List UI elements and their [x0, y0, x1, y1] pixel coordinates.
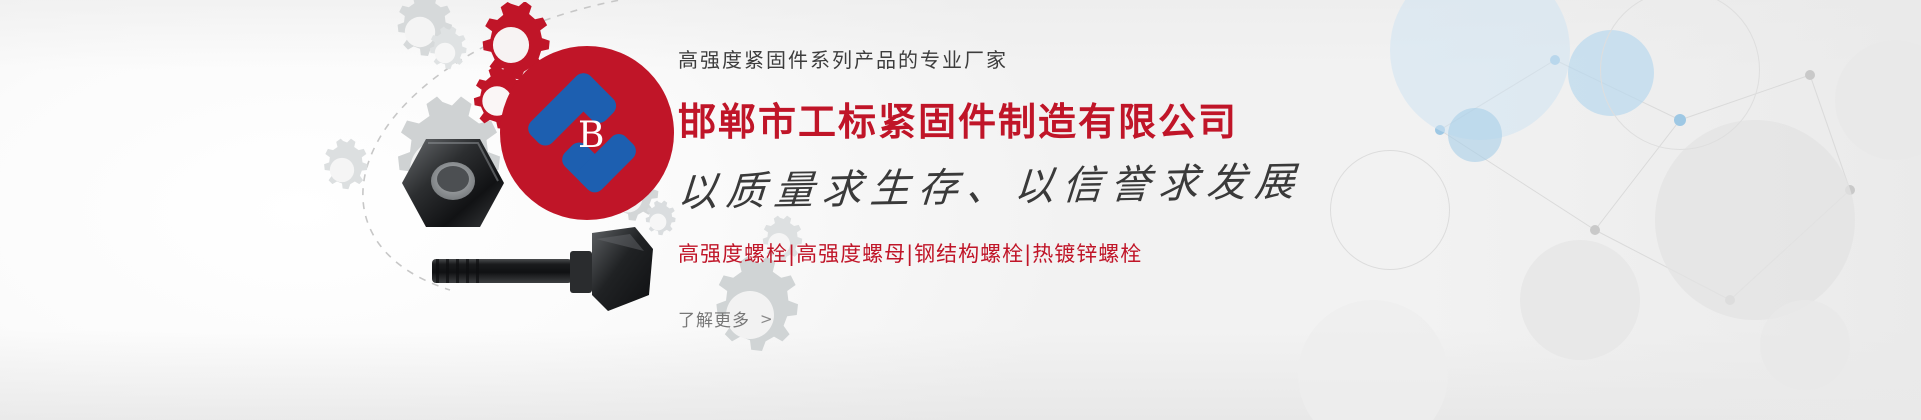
- company-logo: B: [500, 46, 675, 221]
- company-name-heading: 邯郸市工标紧固件制造有限公司: [678, 91, 1378, 146]
- decor-circle-blue-small: [1448, 108, 1502, 162]
- banner-text-block: 高强度紧固件系列产品的专业厂家 邯郸市工标紧固件制造有限公司 以质量求生存、以信…: [678, 44, 1378, 331]
- product-keywords: 高强度螺栓|高强度螺母|钢结构螺栓|热镀锌螺栓: [678, 238, 1378, 268]
- banner-slogan: 以质量求生存、以信誉求发展: [676, 148, 1381, 218]
- decor-circle-gray-large: [1655, 120, 1855, 320]
- chevron-right-icon: >: [760, 310, 774, 328]
- hex-nut-icon: [398, 133, 508, 233]
- decor-circle-gray-corner: [1760, 300, 1850, 390]
- logo-mark-icon: B: [500, 46, 675, 221]
- bolt-icon: [430, 225, 655, 320]
- hero-banner: B: [0, 0, 1921, 420]
- banner-tagline: 高强度紧固件系列产品的专业厂家: [678, 44, 1378, 73]
- learn-more-link[interactable]: 了解更多 >: [678, 306, 774, 331]
- logo-letter: B: [578, 115, 604, 156]
- decor-circle-gray-medium: [1520, 240, 1640, 360]
- learn-more-label: 了解更多: [678, 306, 750, 331]
